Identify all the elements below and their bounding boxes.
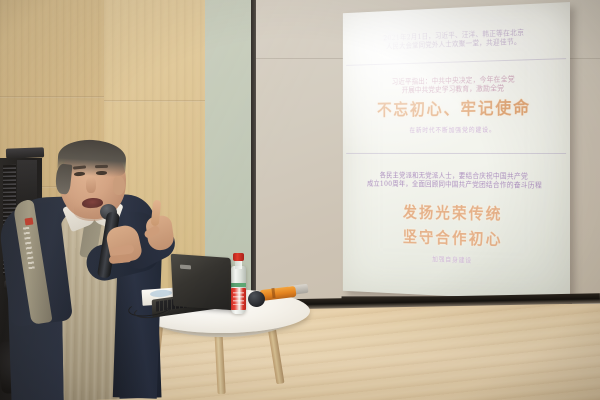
slide-s3-headline-2: 坚守合作初心 — [351, 226, 560, 251]
bottle-cap — [233, 253, 244, 261]
slide-s3-subline: 加强自身建设 — [351, 252, 560, 267]
laptop-lid — [171, 254, 234, 310]
rack-base — [0, 338, 62, 394]
slide-section-2: 习近平指出：中共中央决定，今年在全党 开展中共党史学习教育，激励全党 不忘初心、… — [343, 59, 570, 134]
projected-slide: 2021年2月1日，习近平、汪洋、韩正等在北京 人民大会堂同党外人士欢聚一堂，共… — [343, 2, 570, 302]
rack-front-panel — [17, 160, 37, 212]
slide-section-3: 各民主党派和无党派人士，要结合庆祝中国共产党 成立100周年，全面回顾同中国共产… — [343, 154, 570, 268]
table-microphone-head-icon — [248, 291, 265, 307]
projection-screen: 2021年2月1日，习近平、汪洋、韩正等在北京 人民大会堂同党外人士欢聚一堂，共… — [343, 2, 570, 302]
laptop-brand-logo — [180, 265, 191, 270]
rack-foot — [22, 368, 56, 384]
rack-vent-grille — [3, 165, 16, 275]
screenshot-scene: 2021年2月1日，习近平、汪洋、韩正等在北京 人民大会堂同党外人士欢聚一堂，共… — [0, 0, 600, 400]
bottle-label-band — [231, 283, 246, 287]
slide-s3-line2: 成立100周年，全面回顾同中国共产党团结合作的奋斗历程 — [351, 179, 560, 190]
slide-s2-subline: 在新时代不断加强党的建设。 — [351, 125, 560, 134]
rack-top-plate — [6, 147, 44, 158]
wall-panel-seam — [0, 96, 108, 98]
bottle-label-text — [233, 292, 244, 305]
slide-s3-headline-1: 发扬光荣传统 — [351, 202, 560, 226]
wall-panel-seam — [104, 100, 208, 102]
slide-s2-headline: 不忘初心、牢记使命 — [351, 98, 560, 121]
